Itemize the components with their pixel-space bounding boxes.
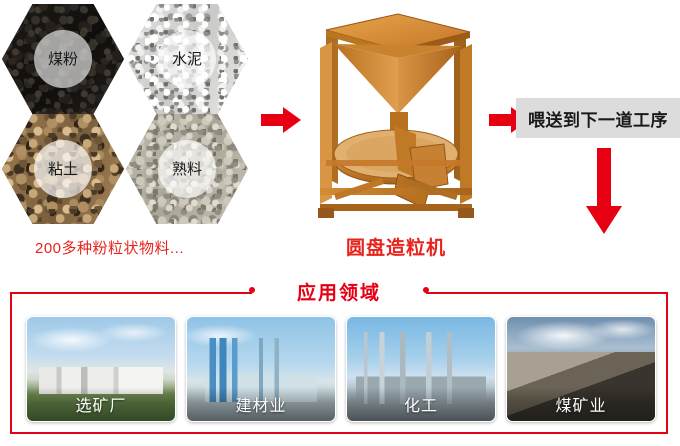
material-label-coal-powder: 煤粉 xyxy=(34,30,92,88)
material-label-clay: 粘土 xyxy=(34,140,92,198)
material-label-clinker: 熟料 xyxy=(158,140,216,198)
application-fields-section: 应用领域 选矿厂 建材业 化工 煤矿业 xyxy=(10,292,668,434)
materials-caption: 200多种粉粒状物料... xyxy=(35,237,184,258)
application-card-coal-mining[interactable]: 煤矿业 xyxy=(506,316,656,422)
materials-hex-cluster: 煤粉 水泥 粘土 熟料 xyxy=(0,2,250,224)
application-card-list: 选矿厂 建材业 化工 煤矿业 xyxy=(12,316,670,422)
infographic-stage: 煤粉 水泥 粘土 熟料 200多种粉粒状物料... xyxy=(0,0,680,446)
material-hex-clay: 粘土 xyxy=(2,114,124,224)
application-card-building-material[interactable]: 建材业 xyxy=(186,316,336,422)
material-hex-cement: 水泥 xyxy=(126,4,248,114)
arrow-shaft xyxy=(597,148,611,210)
material-label-cement: 水泥 xyxy=(158,30,216,88)
title-connector-dot-right xyxy=(423,287,429,293)
application-card-chemical-industry[interactable]: 化工 xyxy=(346,316,496,422)
application-card-ore-dressing-plant[interactable]: 选矿厂 xyxy=(26,316,176,422)
title-connector-dot-left xyxy=(249,287,255,293)
arrow-right-icon-materials-to-machine xyxy=(261,107,301,133)
application-card-label: 煤矿业 xyxy=(507,387,655,421)
next-step-label: 喂送到下一道工序 xyxy=(516,98,680,138)
application-card-label: 选矿厂 xyxy=(27,387,175,421)
title-line-gap-left xyxy=(252,292,300,296)
arrow-head xyxy=(586,206,622,234)
application-card-label: 建材业 xyxy=(187,387,335,421)
arrow-shaft xyxy=(489,114,513,126)
arrow-shaft xyxy=(261,114,285,126)
arrow-down-icon-to-applications xyxy=(586,148,622,234)
machine-caption: 圆盘造粒机 xyxy=(298,233,494,260)
disc-granulator-icon xyxy=(298,8,494,228)
application-title: 应用领域 xyxy=(12,278,666,305)
material-hex-clinker: 熟料 xyxy=(126,114,248,224)
material-hex-coal-powder: 煤粉 xyxy=(2,4,124,114)
title-line-gap-right xyxy=(378,292,426,296)
application-card-label: 化工 xyxy=(347,387,495,421)
